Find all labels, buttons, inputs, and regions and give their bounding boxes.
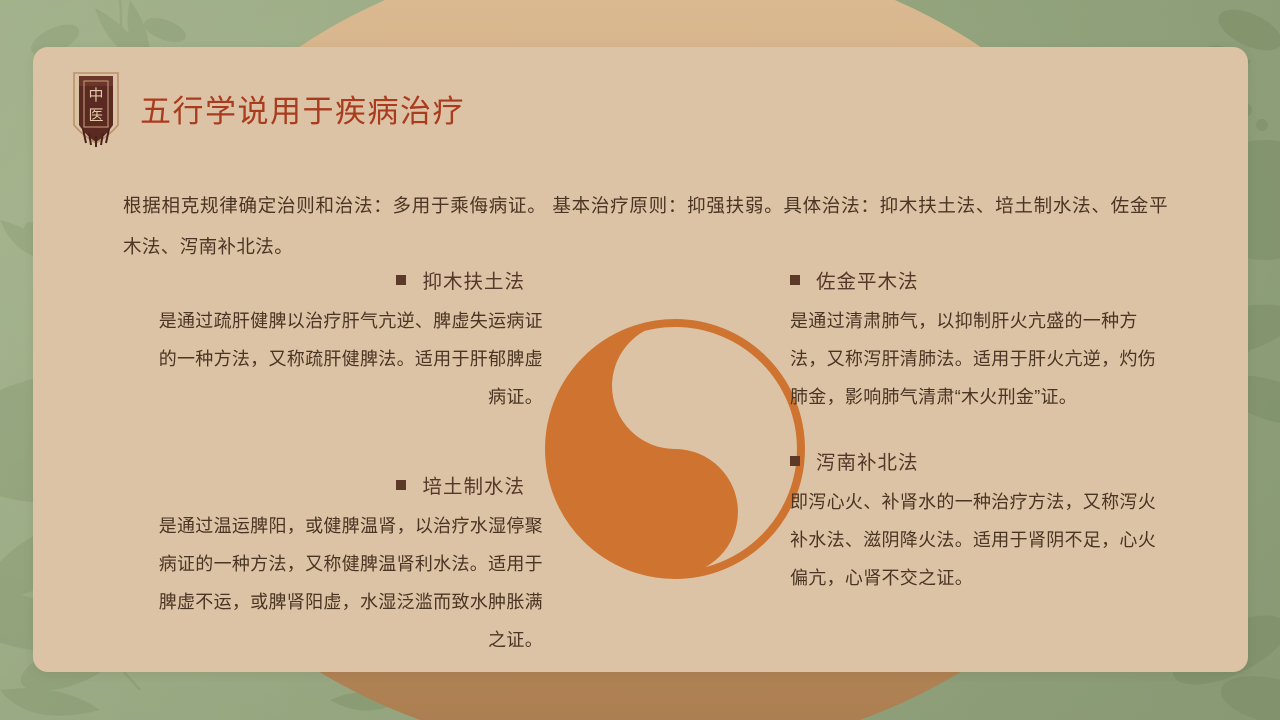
badge-char-top: 中 <box>88 87 103 104</box>
square-bullet-icon <box>396 480 406 490</box>
right-column: 佐金平木法 是通过清肃肺气，以抑制肝火亢盛的一种方法，又称泻肝清肺法。适用于肝火… <box>768 265 1168 615</box>
method-block: 培土制水法 是通过温运脾阳，或健脾温肾，以治疗水湿停聚病证的一种方法，又称健脾温… <box>153 470 543 659</box>
method-block: 泻南补北法 即泻心火、补肾水的一种治疗方法，又称泻火补水法、滋阴降火法。适用于肾… <box>768 446 1168 597</box>
method-heading: 泻南补北法 <box>816 446 919 475</box>
column-spacer <box>768 434 1168 446</box>
method-heading: 抑木扶土法 <box>422 265 525 294</box>
left-column: 抑木扶土法 是通过疏肝健脾以治疗肝气亢逆、脾虚失运病证的一种方法，又称疏肝健脾法… <box>153 265 543 677</box>
method-heading: 培土制水法 <box>422 470 525 499</box>
page-title: 五行学说用于疾病治疗 <box>140 86 465 131</box>
method-heading-row: 佐金平木法 <box>768 265 1168 294</box>
method-block: 抑木扶土法 是通过疏肝健脾以治疗肝气亢逆、脾虚失运病证的一种方法，又称疏肝健脾法… <box>153 265 543 416</box>
content-card: 中 医 五行学说用于疾病治疗 根据相克规律确定治则和治法：多用于乘侮病证。 基本… <box>33 47 1248 672</box>
square-bullet-icon <box>396 275 406 285</box>
method-heading-row: 泻南补北法 <box>768 446 1168 475</box>
badge-char-bottom: 医 <box>88 107 103 124</box>
method-body: 即泻心火、补肾水的一种治疗方法，又称泻火补水法、滋阴降火法。适用于肾阴不足，心火… <box>768 483 1168 597</box>
column-spacer <box>153 434 543 470</box>
square-bullet-icon <box>790 456 800 466</box>
method-block: 佐金平木法 是通过清肃肺气，以抑制肝火亢盛的一种方法，又称泻肝清肺法。适用于肝火… <box>768 265 1168 416</box>
method-heading-row: 培土制水法 <box>153 470 543 499</box>
method-body: 是通过疏肝健脾以治疗肝气亢逆、脾虚失运病证的一种方法，又称疏肝健脾法。适用于肝郁… <box>153 302 543 416</box>
method-body: 是通过清肃肺气，以抑制肝火亢盛的一种方法，又称泻肝清肺法。适用于肝火亢逆，灼伤肺… <box>768 302 1168 416</box>
slide-root: 中 医 五行学说用于疾病治疗 根据相克规律确定治则和治法：多用于乘侮病证。 基本… <box>0 0 1280 720</box>
square-bullet-icon <box>790 275 800 285</box>
method-heading: 佐金平木法 <box>816 265 919 294</box>
tcm-scroll-badge-icon: 中 医 <box>68 69 124 147</box>
method-heading-row: 抑木扶土法 <box>153 265 543 294</box>
slide-header: 中 医 五行学说用于疾病治疗 <box>68 69 465 147</box>
method-body: 是通过温运脾阳，或健脾温肾，以治疗水湿停聚病证的一种方法，又称健脾温肾利水法。适… <box>153 507 543 659</box>
intro-paragraph: 根据相克规律确定治则和治法：多用于乘侮病证。 基本治疗原则：抑强扶弱。具体治法：… <box>123 185 1168 267</box>
